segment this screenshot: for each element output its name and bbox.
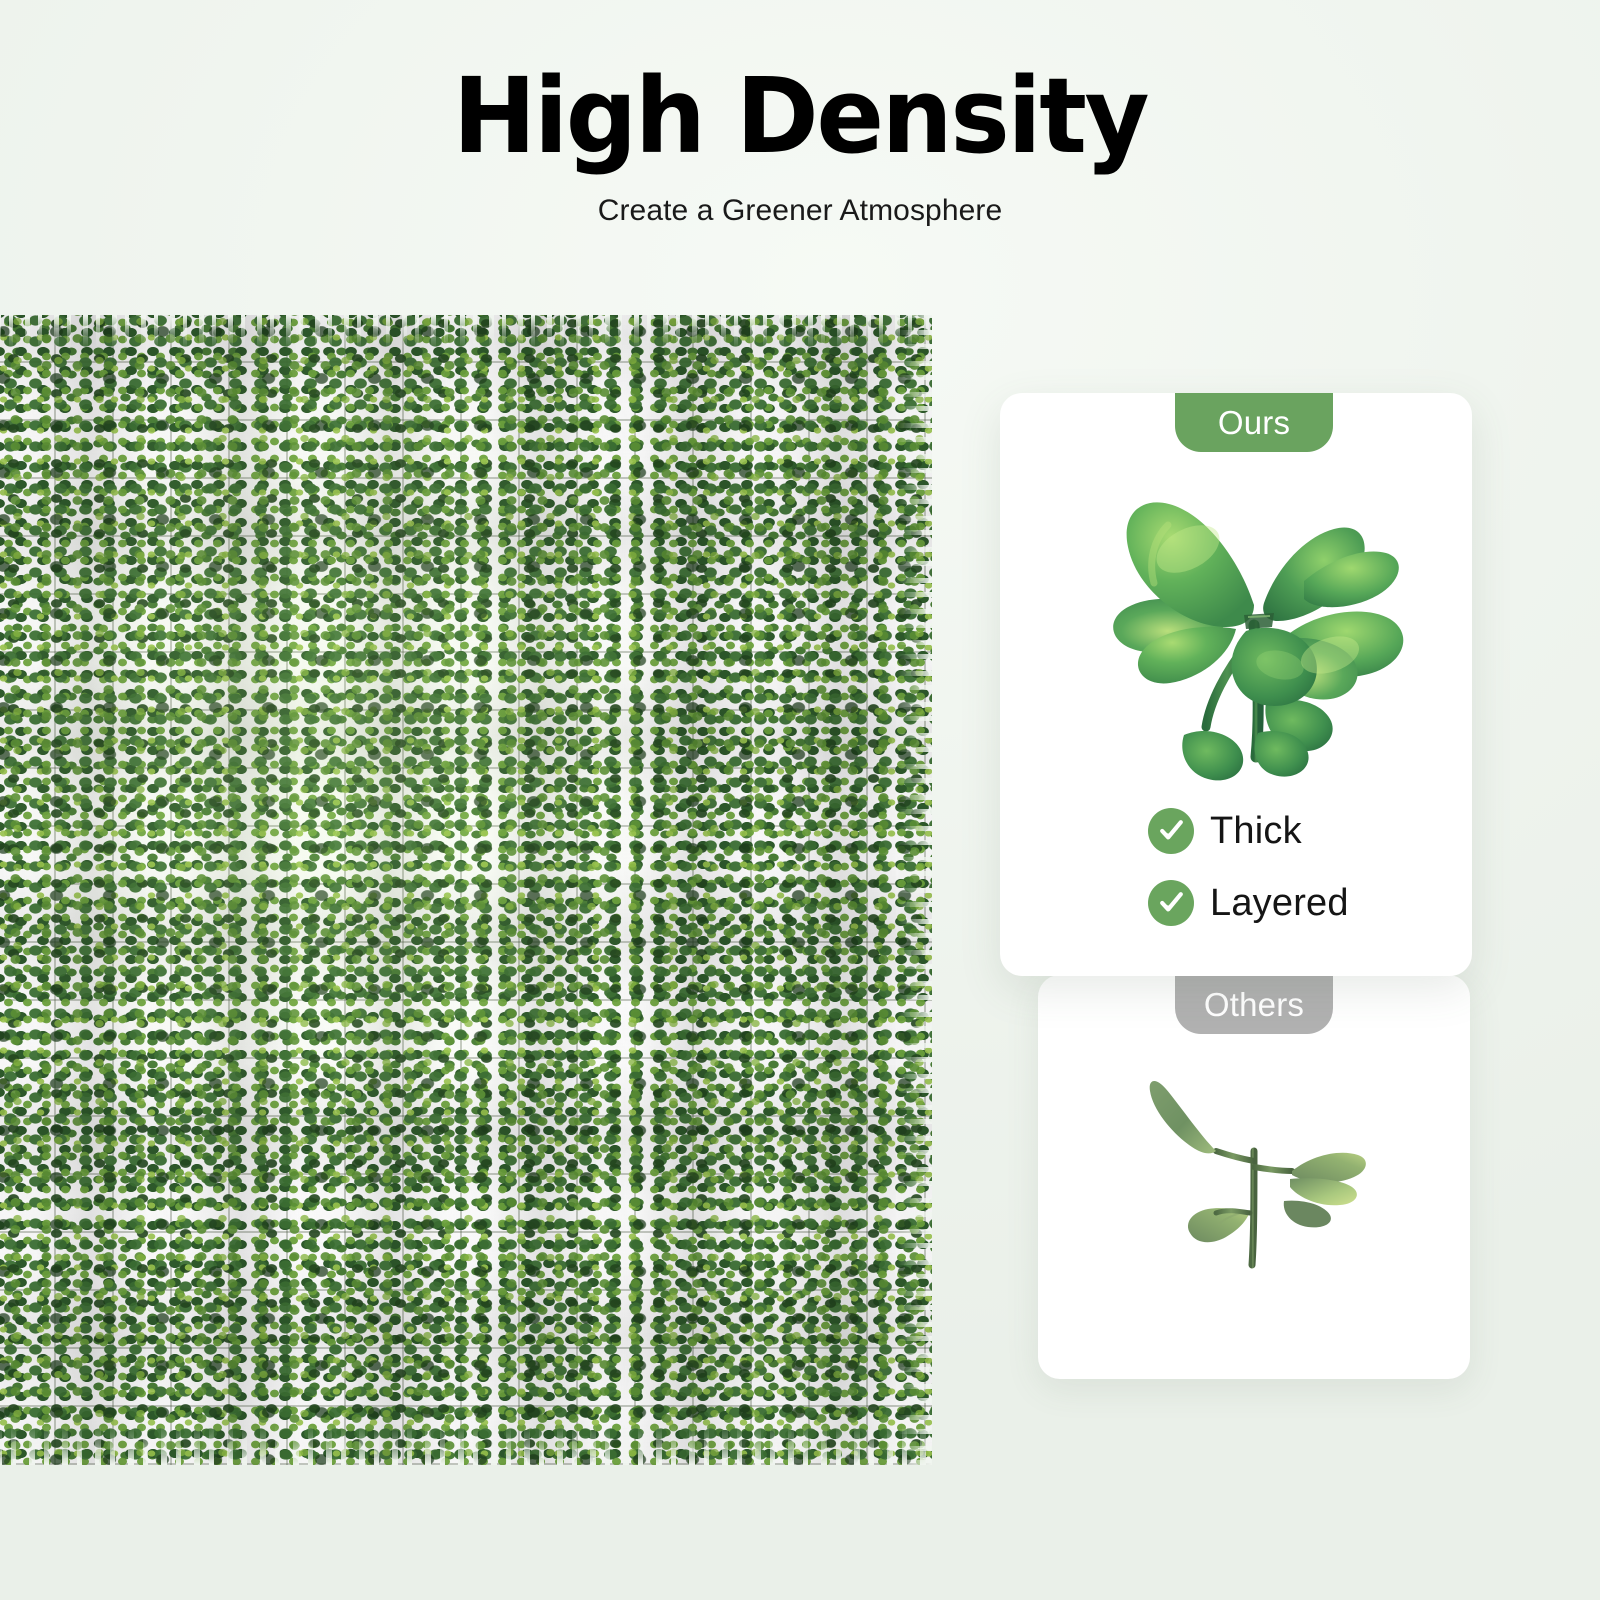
hedge-highlight-overlay	[0, 315, 932, 1465]
ours-card[interactable]: Ours	[1000, 393, 1472, 976]
hedge-panel-image	[0, 315, 932, 1465]
others-plant-image	[1108, 1055, 1408, 1305]
ours-badge: Ours	[1175, 393, 1333, 452]
others-card[interactable]: Others	[1038, 975, 1470, 1379]
check-circle-icon	[1148, 808, 1194, 854]
check-circle-icon	[1148, 880, 1194, 926]
others-badge: Others	[1175, 975, 1333, 1034]
features-list: Thick Layered	[1148, 808, 1349, 926]
page-background: High Density Create a Greener Atmosphere…	[0, 0, 1600, 1600]
feature-label-thick: Thick	[1210, 810, 1302, 853]
page-title: High Density	[32, 64, 1568, 168]
feature-label-layered: Layered	[1210, 882, 1349, 925]
feature-row-layered: Layered	[1148, 880, 1349, 926]
header: High Density Create a Greener Atmosphere	[0, 0, 1600, 228]
page-subtitle: Create a Greener Atmosphere	[0, 168, 1600, 228]
ours-plant-image	[1058, 465, 1414, 795]
feature-row-thick: Thick	[1148, 808, 1349, 854]
